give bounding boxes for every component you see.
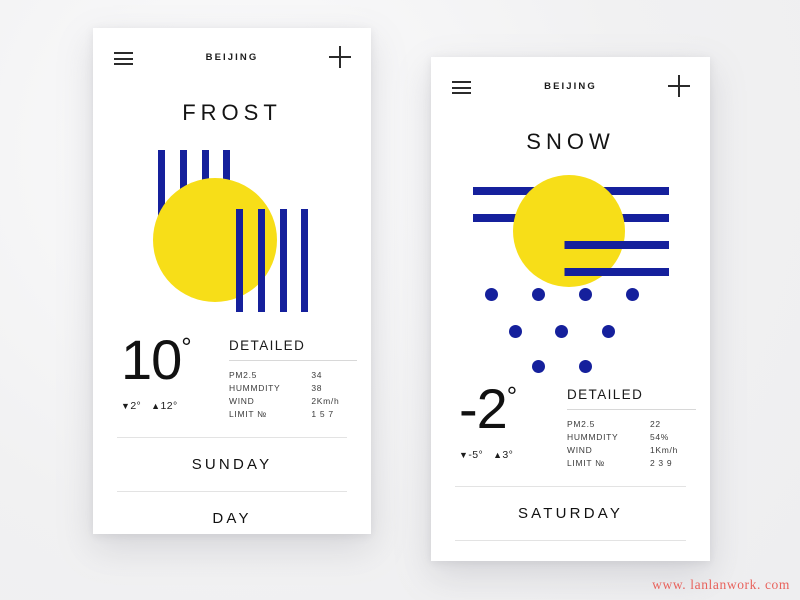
weather-artwork-frost <box>93 142 371 322</box>
detail-key: WIND <box>229 394 311 407</box>
period-row[interactable]: MORNING <box>431 541 710 561</box>
detail-key: LIMIT № <box>229 408 311 421</box>
detail-value: 1Km/h <box>650 443 710 456</box>
high-temperature: 3° <box>502 449 513 461</box>
snow-dot <box>626 288 639 301</box>
snow-dot <box>532 288 545 301</box>
table-row: LIMIT № 2 3 9 <box>567 457 710 470</box>
degree-symbol: ° <box>181 332 191 362</box>
low-arrow-icon: ▼ <box>459 450 468 460</box>
card-topbar: BEIJING <box>93 28 371 72</box>
current-temperature: 10° <box>121 334 229 386</box>
detail-key: LIMIT № <box>567 457 650 470</box>
frost-stripe <box>301 209 308 312</box>
weather-artwork-snow <box>431 169 710 369</box>
readings-block: -2° ▼-5°▲3° DETAILED PM2.5 22 HUMMDITY 5… <box>459 383 710 470</box>
snow-dot <box>555 325 568 338</box>
temperature-column: -2° ▼-5°▲3° <box>459 383 567 461</box>
card-topbar: BEIJING <box>431 57 710 101</box>
period-row[interactable]: DAY <box>93 492 371 534</box>
hamburger-bar <box>452 92 471 94</box>
snow-dot <box>509 325 522 338</box>
current-temperature: -2° <box>459 383 567 435</box>
detail-key: HUMMDITY <box>567 430 650 443</box>
temperature-value: 10 <box>121 328 181 391</box>
plus-icon[interactable] <box>329 46 351 68</box>
detail-title: DETAILED <box>229 338 371 360</box>
min-max-temperature: ▼-5°▲3° <box>459 449 567 461</box>
detail-key: PM2.5 <box>567 417 650 430</box>
min-max-temperature: ▼2°▲12° <box>121 400 229 412</box>
condition-title: SNOW <box>431 129 710 155</box>
detail-title: DETAILED <box>567 387 710 409</box>
readings-block: 10° ▼2°▲12° DETAILED PM2.5 34 HUMMDITY 3… <box>121 334 371 421</box>
high-temperature: 12° <box>160 400 177 412</box>
snow-dot <box>485 288 498 301</box>
low-temperature: -5° <box>468 449 483 461</box>
weather-card-frost: BEIJING FROST 10° ▼2°▲12° DETAILED PM2.5… <box>93 28 371 534</box>
table-row: PM2.5 22 <box>567 417 710 430</box>
snow-dot <box>579 288 592 301</box>
detail-value: 2Km/h <box>311 394 371 407</box>
detail-value: 2 3 9 <box>650 457 710 470</box>
detail-key: HUMMDITY <box>229 381 311 394</box>
frost-stripe <box>280 209 287 312</box>
snow-line <box>473 241 669 249</box>
frost-stripe <box>236 209 243 312</box>
detail-column: DETAILED PM2.5 34 HUMMDITY 38 WIND 2Km/h… <box>229 334 371 421</box>
high-arrow-icon: ▲ <box>493 450 502 460</box>
detail-value: 34 <box>311 368 371 381</box>
snow-dot <box>602 325 615 338</box>
low-arrow-icon: ▼ <box>121 401 130 411</box>
frost-stripe <box>258 209 265 312</box>
snow-line <box>473 268 669 276</box>
detail-table: PM2.5 22 HUMMDITY 54% WIND 1Km/h LIMIT №… <box>567 417 710 470</box>
table-row: WIND 2Km/h <box>229 394 371 407</box>
day-row[interactable]: SATURDAY <box>431 487 710 540</box>
detail-column: DETAILED PM2.5 22 HUMMDITY 54% WIND 1Km/… <box>567 383 710 470</box>
temperature-column: 10° ▼2°▲12° <box>121 334 229 412</box>
snow-dot <box>532 360 545 373</box>
table-row: WIND 1Km/h <box>567 443 710 456</box>
detail-key: PM2.5 <box>229 368 311 381</box>
weather-card-snow: BEIJING SNOW -2° ▼-5°▲3° DETAILED <box>431 57 710 561</box>
detail-table: PM2.5 34 HUMMDITY 38 WIND 2Km/h LIMIT № … <box>229 368 371 421</box>
low-temperature: 2° <box>130 400 141 412</box>
detail-value: 54% <box>650 430 710 443</box>
detail-divider <box>229 360 357 361</box>
site-watermark: www. lanlanwork. com <box>652 577 790 593</box>
detail-divider <box>567 409 696 410</box>
snow-dot <box>579 360 592 373</box>
plus-icon[interactable] <box>668 75 690 97</box>
table-row: HUMMDITY 54% <box>567 430 710 443</box>
day-row[interactable]: SUNDAY <box>93 438 371 491</box>
detail-key: WIND <box>567 443 650 456</box>
detail-value: 22 <box>650 417 710 430</box>
table-row: PM2.5 34 <box>229 368 371 381</box>
condition-title: FROST <box>93 100 371 126</box>
table-row: LIMIT № 1 5 7 <box>229 408 371 421</box>
table-row: HUMMDITY 38 <box>229 381 371 394</box>
degree-symbol: ° <box>507 381 517 411</box>
hamburger-bar <box>114 63 133 65</box>
detail-value: 1 5 7 <box>311 408 371 421</box>
detail-value: 38 <box>311 381 371 394</box>
temperature-value: -2 <box>459 377 507 440</box>
